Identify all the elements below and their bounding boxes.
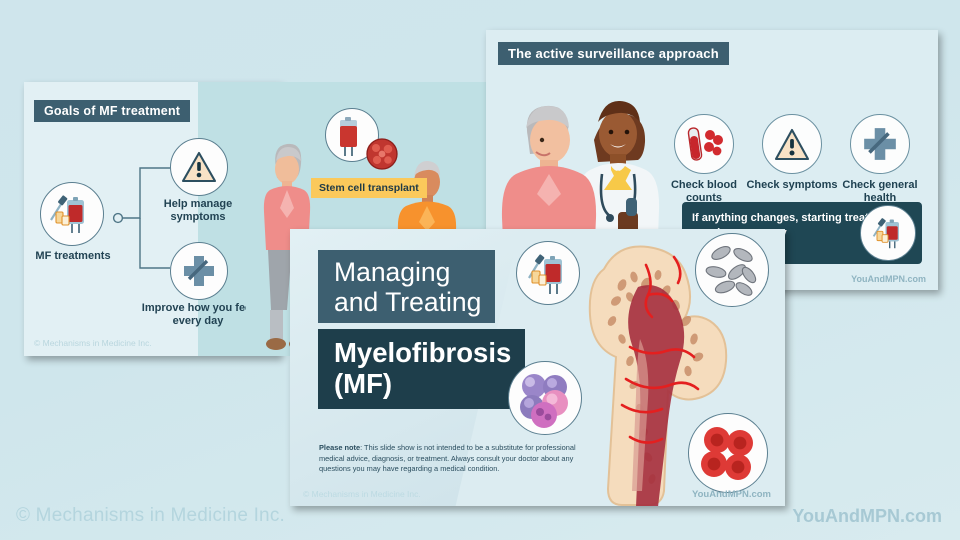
page-copyright: © Mechanisms in Medicine Inc. (16, 505, 285, 527)
surveillance-website: YouAndMPN.com (851, 274, 926, 284)
slide-goals-of-mf-treatment[interactable]: Goals of MF treatment (24, 82, 280, 356)
medical-cross-icon (181, 253, 217, 289)
slide-main-body: Managing and Treating Myelofibrosis (MF)… (290, 229, 785, 506)
goals-banner-title: Goals of MF treatment (34, 100, 190, 122)
goals-mf-treatments-label: MF treatments (30, 250, 116, 263)
warning-triangle-icon (181, 150, 217, 184)
goals-copyright: © Mechanisms in Medicine Inc. (34, 338, 152, 348)
main-title-block: Managing and Treating (318, 250, 495, 323)
main-iv-bag-icon-circle (516, 241, 580, 305)
stem-cell-cluster-icon (365, 137, 399, 171)
white-blood-cells-icon (514, 367, 576, 429)
stem-cell-transplant-badge[interactable]: Stem cell transplant (311, 178, 427, 198)
main-subtitle-line-2: (MF) (334, 368, 511, 399)
goals-improve-feel-label: Improve how you feel every day (134, 302, 262, 328)
surveillance-check-blood-counts[interactable]: Check blood counts (656, 114, 752, 205)
iv-bag-pills-syringe-icon (866, 211, 910, 255)
check-symptoms-icon-circle (762, 114, 822, 174)
surveillance-note-icon (860, 205, 916, 261)
platelets-icon (701, 239, 763, 301)
main-platelets-icon-circle (695, 233, 769, 307)
main-white-blood-cells-icon-circle (508, 361, 582, 435)
goals-help-manage-symptoms-label: Help manage symptoms (136, 198, 260, 224)
warning-triangle-icon (773, 127, 811, 162)
red-blood-cells-icon (695, 420, 761, 486)
iv-bag-pills-syringe-icon (46, 188, 98, 240)
blood-tube-cells-icon (683, 123, 725, 165)
check-symptoms-label: Check symptoms (744, 179, 840, 192)
main-title-line-2: and Treating (334, 287, 481, 317)
check-general-health-icon-circle (850, 114, 910, 174)
goals-mf-treatments-icon (40, 182, 104, 246)
slide-main-title[interactable]: Managing and Treating Myelofibrosis (MF)… (290, 229, 785, 506)
slide-collage-canvas: Goals of MF treatment (0, 0, 960, 540)
main-website: YouAndMPN.com (692, 489, 771, 500)
main-title-line-1: Managing (334, 257, 481, 287)
goals-improve-feel-icon (170, 242, 228, 300)
surveillance-check-symptoms[interactable]: Check symptoms (744, 114, 840, 192)
iv-bag-pills-syringe-icon (522, 247, 574, 299)
goals-help-manage-symptoms-icon (170, 138, 228, 196)
main-disclaimer-lead: Please note (319, 443, 360, 452)
main-subtitle-line-1: Myelofibrosis (334, 337, 511, 368)
main-red-blood-cells-icon-circle (688, 413, 768, 493)
surveillance-banner-title: The active surveillance approach (498, 42, 729, 65)
medical-cross-icon (861, 125, 899, 163)
check-blood-counts-icon-circle (674, 114, 734, 174)
slide-goals-body: Goals of MF treatment (24, 82, 280, 356)
main-subtitle-block: Myelofibrosis (MF) (318, 329, 525, 409)
page-website: YouAndMPN.com (792, 506, 942, 527)
surveillance-check-general-health[interactable]: Check general health (832, 114, 928, 205)
main-copyright: © Mechanisms in Medicine Inc. (303, 489, 421, 499)
